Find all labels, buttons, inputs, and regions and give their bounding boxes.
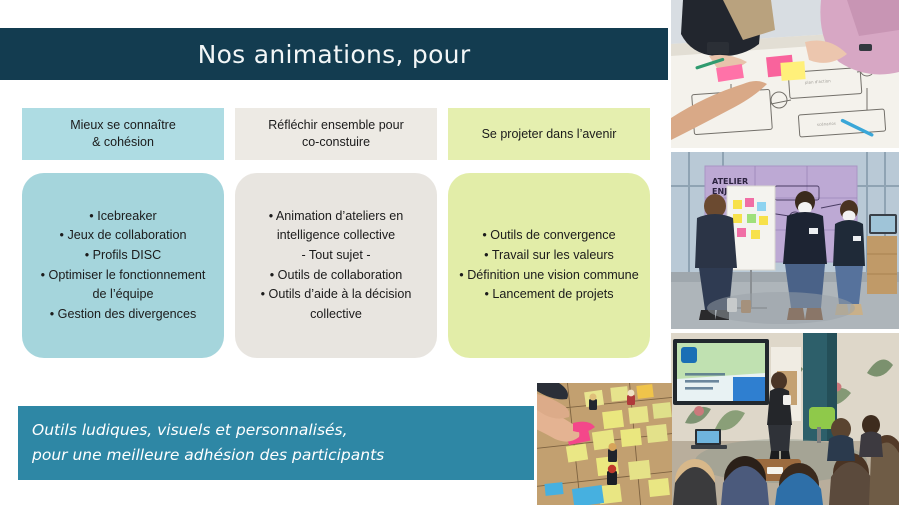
column-1-heading: Mieux se connaître & cohésion bbox=[22, 108, 224, 160]
list-item: • Optimiser le fonctionnement de l’équip… bbox=[32, 266, 214, 305]
list-item: • Outils de convergence bbox=[458, 226, 640, 246]
list-item: • Gestion des divergences bbox=[32, 305, 214, 325]
photo-workshop-canvas: objectifs plan d'action scénarios bbox=[671, 0, 899, 148]
column-3-list: • Outils de convergence • Travail sur le… bbox=[458, 226, 640, 304]
columns-group: Mieux se connaître & cohésion • Icebreak… bbox=[22, 108, 662, 363]
column-1-heading-line2: & cohésion bbox=[92, 135, 154, 149]
column-1-list: • Icebreaker • Jeux de collaboration • P… bbox=[32, 207, 214, 324]
list-item-note: - Tout sujet - bbox=[245, 246, 427, 266]
page-title: Nos animations, pour bbox=[198, 40, 471, 69]
list-item: • Icebreaker bbox=[32, 207, 214, 227]
column-2-heading-line2: co-constuire bbox=[302, 135, 370, 149]
list-item: • Définition une vision commune bbox=[458, 266, 640, 286]
list-item: • Lancement de projets bbox=[458, 285, 640, 305]
list-item: • Profils DISC bbox=[32, 246, 214, 266]
column-2-list: • Animation d’ateliers en intelligence c… bbox=[245, 207, 427, 324]
list-item: • Travail sur les valeurs bbox=[458, 246, 640, 266]
tagline-banner: Outils ludiques, visuels et personnalisé… bbox=[18, 406, 534, 480]
column-2-body: • Animation d’ateliers en intelligence c… bbox=[235, 173, 437, 358]
photo-postits-kraft bbox=[537, 383, 672, 505]
column-3-heading-line1: Se projeter dans l’avenir bbox=[482, 127, 617, 141]
tagline-line-2: pour une meilleure adhésion des particip… bbox=[32, 443, 534, 468]
list-item: • Outils d’aide à la décision collective bbox=[245, 285, 427, 324]
column-3-heading: Se projeter dans l’avenir bbox=[448, 108, 650, 160]
photo-presentation-room bbox=[671, 333, 899, 505]
column-se-projeter: Se projeter dans l’avenir • Outils de co… bbox=[448, 108, 650, 358]
slide-root: Nos animations, pour Mieux se connaître … bbox=[0, 0, 899, 505]
column-1-heading-line1: Mieux se connaître bbox=[70, 118, 176, 132]
list-item: • Jeux de collaboration bbox=[32, 226, 214, 246]
column-1-body: • Icebreaker • Jeux de collaboration • P… bbox=[22, 173, 224, 358]
list-item: • Outils de collaboration bbox=[245, 266, 427, 286]
column-2-heading-line1: Réfléchir ensemble pour bbox=[268, 118, 404, 132]
svg-text:ATELIER: ATELIER bbox=[712, 177, 748, 186]
list-item: • Animation d’ateliers en intelligence c… bbox=[245, 207, 427, 246]
column-3-body: • Outils de convergence • Travail sur le… bbox=[448, 173, 650, 358]
column-mieux-se-connaitre: Mieux se connaître & cohésion • Icebreak… bbox=[22, 108, 224, 358]
photo-atelier-enjeux: ATELIER ENJEUX bbox=[671, 152, 899, 329]
column-2-heading: Réfléchir ensemble pour co-constuire bbox=[235, 108, 437, 160]
slide-title-bar: Nos animations, pour bbox=[0, 28, 668, 80]
tagline-line-1: Outils ludiques, visuels et personnalisé… bbox=[32, 418, 534, 443]
column-reflechir-ensemble: Réfléchir ensemble pour co-constuire • A… bbox=[235, 108, 437, 358]
